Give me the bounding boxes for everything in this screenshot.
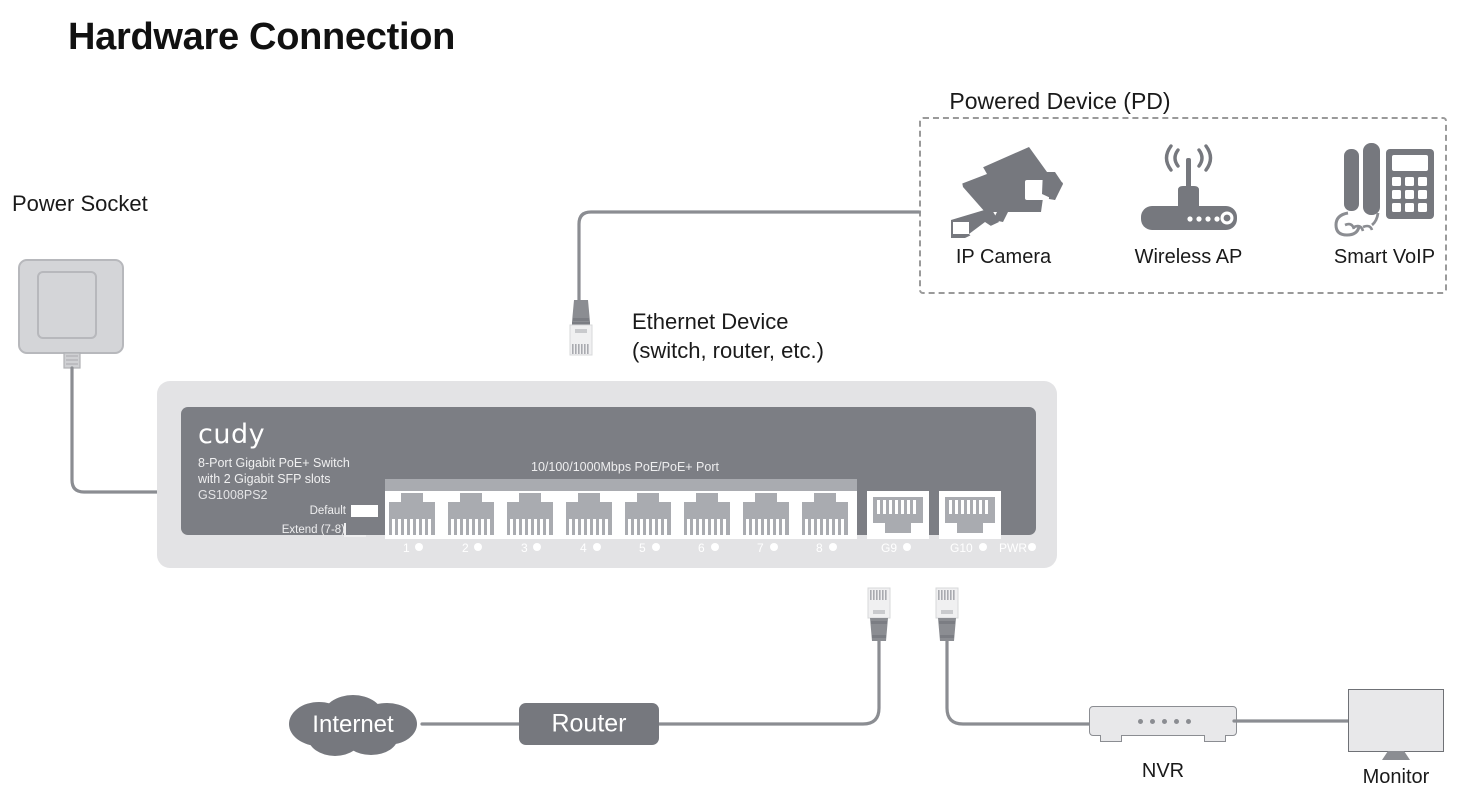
power-socket-label: Power Socket bbox=[12, 191, 148, 217]
smart-voip-icon bbox=[1332, 137, 1438, 242]
port-led-6 bbox=[711, 543, 719, 551]
port-label-1: 1 bbox=[403, 541, 410, 555]
dip-extend-bracket-icon bbox=[344, 523, 366, 537]
nvr-to-monitor-cable bbox=[1232, 712, 1357, 732]
powered-device-group-title: Powered Device (PD) bbox=[949, 88, 1170, 115]
sfp-led-g9 bbox=[903, 543, 911, 551]
nvr-led-3 bbox=[1162, 719, 1167, 724]
power-led bbox=[1028, 543, 1036, 551]
nvr-label: NVR bbox=[1142, 760, 1184, 783]
pd-caption-wireless-ap: Wireless AP bbox=[1126, 246, 1251, 269]
switch-port-jack-7[interactable] bbox=[741, 493, 791, 537]
page-title: Hardware Connection bbox=[68, 16, 455, 59]
switch-model-line2: with 2 Gigabit SFP slots bbox=[198, 471, 350, 487]
diagram-canvas: Hardware Connection Power Socket Powered… bbox=[0, 0, 1464, 803]
pd-item-wireless-ap: Wireless AP bbox=[1126, 134, 1251, 269]
router-to-switch-cable bbox=[640, 630, 900, 740]
port-label-5: 5 bbox=[639, 541, 646, 555]
port-label-4: 4 bbox=[580, 541, 587, 555]
poe-switch-device: cudy 8-Port Gigabit PoE+ Switch with 2 G… bbox=[157, 381, 1057, 568]
switch-port-jack-5[interactable] bbox=[623, 493, 673, 537]
port-label-8: 8 bbox=[816, 541, 823, 555]
power-led-label: PWR bbox=[999, 541, 1027, 555]
dip-switch-toggle[interactable] bbox=[351, 505, 378, 517]
ports-top-strip bbox=[385, 479, 857, 491]
brand-logo: cudy bbox=[198, 419, 265, 450]
switch-port-jack-4[interactable] bbox=[564, 493, 614, 537]
sfp-label-g10: G10 bbox=[950, 541, 973, 555]
switch-port-jack-2[interactable] bbox=[446, 493, 496, 537]
port-label-6: 6 bbox=[698, 541, 705, 555]
nvr-icon bbox=[1089, 706, 1237, 736]
ethernet-device-label: Ethernet Device (switch, router, etc.) bbox=[632, 307, 824, 365]
internet-label: Internet bbox=[283, 711, 423, 739]
ethernet-device-label-line2: (switch, router, etc.) bbox=[632, 336, 824, 365]
port-led-5 bbox=[652, 543, 660, 551]
switch-port-jack-8[interactable] bbox=[800, 493, 850, 537]
ethernet-device-label-line1: Ethernet Device bbox=[632, 307, 824, 336]
switch-port-jack-3[interactable] bbox=[505, 493, 555, 537]
sfp-slot-g9[interactable] bbox=[867, 491, 929, 539]
switch-model-line1: 8-Port Gigabit PoE+ Switch bbox=[198, 455, 350, 471]
dip-switch-group: Default Extend (7-8) bbox=[273, 505, 378, 541]
dip-extend-label: Extend (7-8) bbox=[282, 524, 345, 536]
pd-caption-smart-voip: Smart VoIP bbox=[1322, 246, 1447, 269]
wireless-ap-icon bbox=[1134, 142, 1244, 242]
sfp-slot-g10[interactable] bbox=[939, 491, 1001, 539]
port-led-8 bbox=[829, 543, 837, 551]
port-led-2 bbox=[474, 543, 482, 551]
port-led-3 bbox=[533, 543, 541, 551]
switch-front-panel: cudy 8-Port Gigabit PoE+ Switch with 2 G… bbox=[181, 407, 1036, 535]
port-label-3: 3 bbox=[521, 541, 528, 555]
port-label-2: 2 bbox=[462, 541, 469, 555]
switch-port-jack-1[interactable] bbox=[387, 493, 437, 537]
pd-item-ip-camera: IP Camera bbox=[941, 134, 1066, 269]
ports-caption: 10/100/1000Mbps PoE/PoE+ Port bbox=[531, 460, 719, 474]
port-led-1 bbox=[415, 543, 423, 551]
sfp-led-g10 bbox=[979, 543, 987, 551]
ip-camera-icon bbox=[943, 142, 1065, 242]
port-label-7: 7 bbox=[757, 541, 764, 555]
switch-model-id: GS1008PS2 bbox=[198, 487, 350, 503]
nvr-to-switch-cable bbox=[940, 630, 1110, 740]
port-led-4 bbox=[593, 543, 601, 551]
monitor-label: Monitor bbox=[1363, 766, 1430, 789]
nvr-foot-right bbox=[1204, 735, 1226, 742]
nvr-led-4 bbox=[1174, 719, 1179, 724]
nvr-led-2 bbox=[1150, 719, 1155, 724]
internet-to-router-cable bbox=[420, 715, 530, 735]
nvr-foot-left bbox=[1100, 735, 1122, 742]
pd-caption-ip-camera: IP Camera bbox=[941, 246, 1066, 269]
monitor-stand-icon bbox=[1372, 751, 1420, 760]
dip-default-label: Default bbox=[310, 505, 346, 517]
nvr-led-5 bbox=[1186, 719, 1191, 724]
nvr-led-1 bbox=[1138, 719, 1143, 724]
pd-item-smart-voip: Smart VoIP bbox=[1322, 134, 1447, 269]
internet-cloud-icon: Internet bbox=[283, 690, 423, 760]
rj45-connector-icon bbox=[564, 300, 598, 362]
router-label: Router bbox=[519, 710, 659, 739]
monitor-icon bbox=[1348, 689, 1444, 752]
switch-port-jack-6[interactable] bbox=[682, 493, 732, 537]
switch-model-text: 8-Port Gigabit PoE+ Switch with 2 Gigabi… bbox=[198, 455, 350, 503]
sfp-label-g9: G9 bbox=[881, 541, 897, 555]
port-led-7 bbox=[770, 543, 778, 551]
router-icon: Router bbox=[519, 703, 659, 745]
